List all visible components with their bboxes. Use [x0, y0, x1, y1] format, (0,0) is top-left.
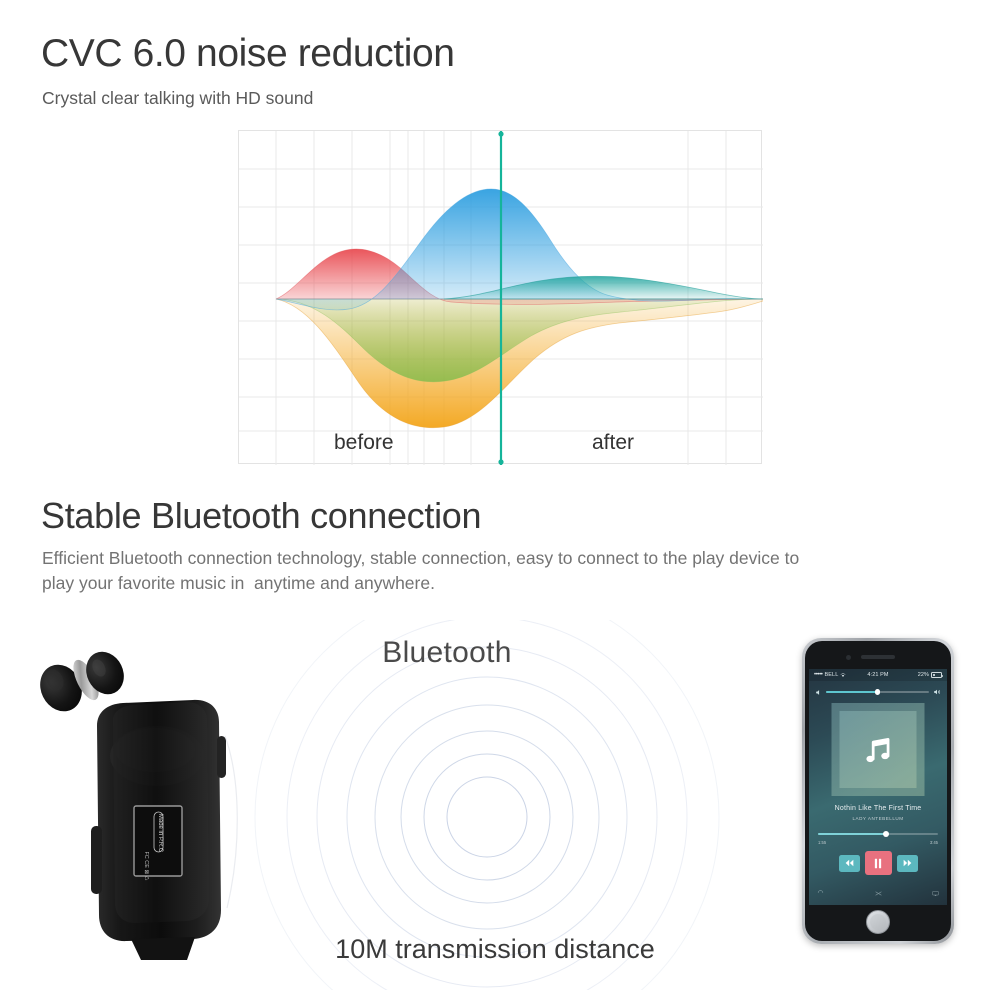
waveform-chart — [238, 130, 762, 464]
track-time-row: 1:55 3:45 — [818, 840, 938, 845]
status-bar: ••••• BELL 4:21 PM 22% — [809, 669, 947, 681]
smartphone-mockup: ••••• BELL 4:21 PM 22% — [802, 638, 954, 944]
phone-frame: ••••• BELL 4:21 PM 22% — [802, 638, 954, 944]
fast-forward-icon — [903, 859, 912, 867]
status-time: 4:21 PM — [867, 672, 888, 678]
seek-bar-fill — [818, 833, 886, 835]
seek-bar-track[interactable] — [818, 833, 938, 835]
elapsed-time: 1:55 — [818, 840, 826, 845]
phone-bezel: ••••• BELL 4:21 PM 22% — [805, 641, 951, 941]
transport-controls — [809, 851, 947, 875]
player-bottom-bar — [817, 889, 939, 898]
seek-bar-knob[interactable] — [883, 831, 889, 837]
battery-icon — [931, 672, 942, 678]
home-button[interactable] — [866, 910, 890, 934]
retractable-cable — [225, 736, 237, 908]
pause-icon — [874, 858, 882, 869]
album-art-inner — [840, 711, 917, 788]
music-note-icon — [861, 733, 895, 767]
volume-high-icon — [933, 688, 941, 696]
next-button[interactable] — [897, 855, 918, 872]
waveform-chart-svg — [239, 131, 763, 465]
volume-slider-row[interactable] — [815, 686, 941, 698]
signal-strength-icon: ••••• — [814, 672, 823, 678]
track-artist: LADY ANTEBELLUM — [809, 816, 947, 821]
track-title: Nothin Like The First Time — [809, 805, 947, 812]
volume-low-icon — [815, 689, 822, 696]
bluetooth-title: Stable Bluetooth connection — [41, 495, 481, 537]
carrier-label: BELL — [825, 672, 839, 678]
rewind-icon — [845, 859, 854, 867]
volume-slider-track[interactable] — [826, 691, 929, 693]
headset-svg: Made in P.R.C FC CE ⊠ ♺ — [35, 640, 245, 960]
battery-percent-label: 22% — [918, 672, 929, 678]
bluetooth-body: Efficient Bluetooth connection technolog… — [42, 546, 817, 596]
noise-reduction-subtitle: Crystal clear talking with HD sound — [42, 88, 313, 109]
repeat-icon[interactable] — [817, 890, 824, 897]
svg-text:FC CE ⊠ ♺: FC CE ⊠ ♺ — [143, 851, 150, 880]
volume-slider-fill — [826, 691, 878, 693]
seek-bar[interactable] — [818, 831, 938, 837]
earpiece-speaker — [861, 655, 895, 659]
airplay-icon[interactable] — [932, 890, 939, 897]
made-in-text: Made in P.R.C — [157, 814, 163, 853]
album-art — [832, 703, 925, 796]
total-time: 3:45 — [930, 840, 938, 845]
product-label-plate: Made in P.R.C FC CE ⊠ ♺ — [134, 806, 182, 881]
clip-hinge — [91, 826, 102, 894]
previous-button[interactable] — [839, 855, 860, 872]
chart-label-before: before — [334, 431, 394, 455]
bluetooth-headset-product: Made in P.R.C FC CE ⊠ ♺ — [35, 640, 245, 960]
chart-label-after: after — [592, 431, 634, 455]
front-camera-icon — [846, 655, 851, 660]
product-page: CVC 6.0 noise reduction Crystal clear ta… — [0, 0, 1000, 1000]
noise-reduction-title: CVC 6.0 noise reduction — [41, 33, 455, 76]
phone-screen: ••••• BELL 4:21 PM 22% — [809, 669, 947, 905]
wifi-icon — [840, 672, 846, 678]
transmission-distance-label: 10M transmission distance — [335, 934, 655, 965]
volume-slider-knob[interactable] — [875, 689, 881, 695]
side-button-upper — [217, 736, 226, 778]
shuffle-icon[interactable] — [875, 890, 882, 897]
bluetooth-word-label: Bluetooth — [382, 636, 511, 670]
play-pause-button[interactable] — [865, 851, 892, 875]
